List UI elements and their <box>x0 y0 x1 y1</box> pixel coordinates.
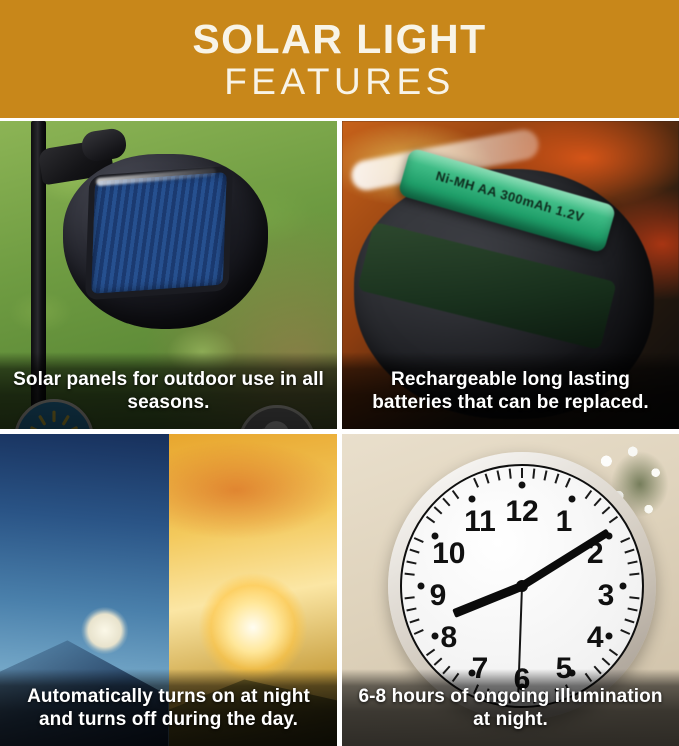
infographic-root: SOLAR LIGHT FEATURES <box>0 0 679 746</box>
clock-numeral: 11 <box>464 505 496 539</box>
clock-center-pin <box>516 580 528 592</box>
feature-panel-solar-panels: Solar panels for outdoor use in all seas… <box>0 121 337 429</box>
clock-numeral: 3 <box>598 579 615 613</box>
panel-caption: 6-8 hours of ongoing illumination at nig… <box>342 669 679 746</box>
feature-panel-auto-on-off: Automatically turns on at night and turn… <box>0 434 337 746</box>
clock-numeral: 4 <box>587 621 604 655</box>
feature-grid: Solar panels for outdoor use in all seas… <box>0 121 679 746</box>
lamp-solar-cell-shape <box>91 172 227 294</box>
clock-numeral: 8 <box>440 621 457 655</box>
clock-numeral: 10 <box>432 537 465 571</box>
page-title: SOLAR LIGHT <box>192 18 486 61</box>
feature-panel-runtime: 12 1 2 3 4 5 6 7 8 9 10 11 <box>342 434 679 746</box>
panel-caption: Solar panels for outdoor use in all seas… <box>0 352 337 429</box>
clock-numeral: 12 <box>505 495 538 529</box>
panel-caption: Automatically turns on at night and turn… <box>0 669 337 746</box>
lamp-cap-shape <box>80 127 128 163</box>
page-subtitle: FEATURES <box>224 63 455 102</box>
panel-caption: Rechargeable long lasting batteries that… <box>342 352 679 429</box>
clock-numeral: 1 <box>556 505 573 539</box>
header-banner: SOLAR LIGHT FEATURES <box>0 0 679 118</box>
feature-panel-rechargeable-batteries: Ni-MH AA 300mAh 1.2V Rechargeable long l… <box>342 121 679 429</box>
clock-numeral: 9 <box>430 579 447 613</box>
